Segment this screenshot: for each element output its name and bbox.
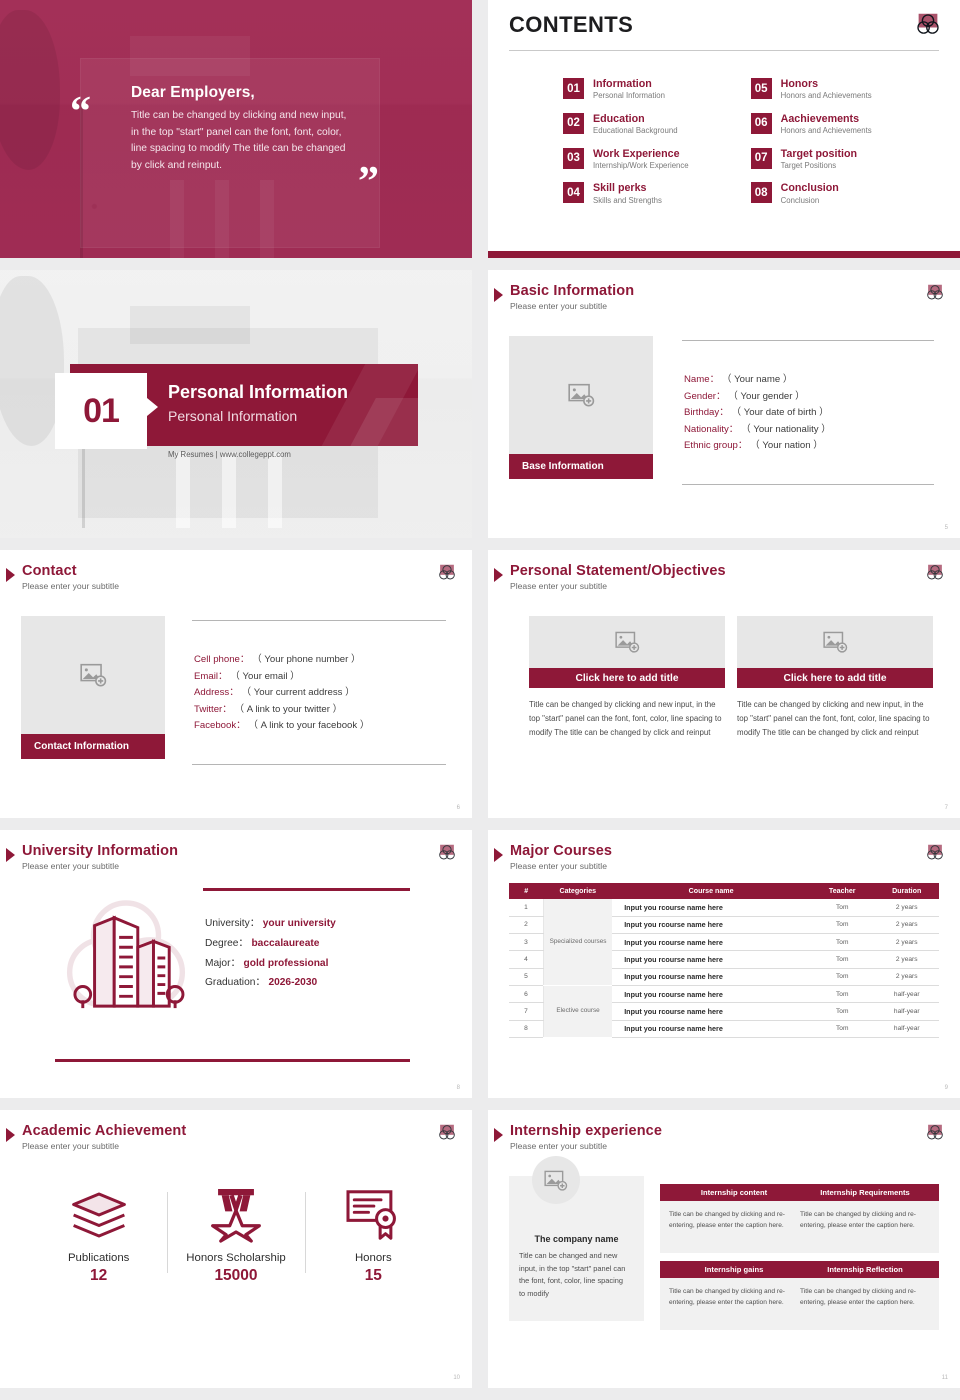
info-key: Degree：: [205, 938, 249, 949]
cell-duration: 2 years: [874, 968, 939, 985]
slide-cover-quote[interactable]: “ Dear Employers, Title can be changed b…: [0, 0, 472, 258]
photo-caption-label: Contact Information: [34, 741, 129, 752]
knot-logo-icon: [436, 1122, 458, 1144]
rule-bottom: [55, 1059, 410, 1062]
contents-item-05[interactable]: 05 Honors Honors and Achievements: [751, 78, 872, 100]
col-course: Course name: [612, 883, 810, 899]
slide-academic-achievement[interactable]: Academic Achievement Please enter your s…: [0, 1110, 472, 1388]
slide-section-divider[interactable]: 01 Personal Information Personal Informa…: [0, 270, 472, 538]
contents-item-06[interactable]: 06 Aachievements Honors and Achievements: [751, 113, 872, 135]
info-row: Address： （ Your current address ）: [194, 685, 446, 702]
info-value: （ Your phone number ）: [252, 654, 360, 665]
page-subtitle: Please enter your subtitle: [510, 861, 607, 871]
stat-label: Publications: [30, 1252, 167, 1264]
card-text: Title can be changed by clicking and re-…: [660, 1278, 808, 1330]
card-text: Title can be changed by clicking and new…: [737, 698, 933, 740]
cell-duration: half-year: [874, 1003, 939, 1020]
image-placeholder[interactable]: [737, 616, 933, 668]
info-key: Cell phone：: [194, 654, 249, 665]
university-panel: University： your university Degree： bacc…: [55, 888, 418, 1062]
building-top-shape: [130, 306, 250, 344]
quote-title: Dear Employers,: [131, 84, 356, 102]
divider-bottom: [682, 484, 934, 485]
contents-item-sub: Internship/Work Experience: [593, 161, 689, 170]
triangle-bullet-icon: [494, 568, 503, 582]
slide-deck: “ Dear Employers, Title can be changed b…: [0, 0, 960, 1400]
knot-logo-icon: [924, 562, 946, 584]
contents-item-sub: Personal Information: [593, 91, 665, 100]
table-row: 1 Specialized courses Input you rcourse …: [509, 899, 939, 916]
books-icon: [71, 1192, 127, 1238]
rule-top: [203, 888, 410, 891]
slide-internship-experience[interactable]: Internship experience Please enter your …: [488, 1110, 960, 1388]
cell-index: 4: [509, 951, 543, 968]
info-key: Major：: [205, 958, 241, 969]
info-key: Address：: [194, 687, 239, 698]
page-number: 5: [945, 525, 948, 531]
building-top-shape: [130, 36, 250, 76]
info-list: Name： （ Your name ） Gender： （ Your gende…: [682, 340, 934, 485]
page-subtitle: Please enter your subtitle: [22, 581, 119, 591]
triangle-bullet-icon: [494, 848, 503, 862]
column-shape: [215, 180, 229, 258]
page-subtitle: Please enter your subtitle: [510, 581, 607, 591]
info-value: （ A link to your facebook ）: [248, 720, 369, 731]
knot-logo-icon: [924, 1122, 946, 1144]
contents-column-left: 01 Information Personal Information 02 E…: [563, 78, 689, 205]
contents-number: 01: [563, 78, 584, 99]
cell-index: 5: [509, 968, 543, 985]
info-key: Graduation：: [205, 977, 266, 988]
contents-item-04[interactable]: 04 Skill perks Skills and Strengths: [563, 182, 689, 204]
triangle-bullet-icon: [6, 568, 15, 582]
company-logo-placeholder[interactable]: [532, 1156, 580, 1204]
contents-number: 03: [563, 148, 584, 169]
contents-item-08[interactable]: 08 Conclusion Conclusion: [751, 182, 872, 204]
contents-item-sub: Skills and Strengths: [593, 196, 662, 205]
page-subtitle: Please enter your subtitle: [22, 861, 119, 871]
column-shape: [170, 180, 184, 258]
contents-number: 08: [751, 182, 772, 203]
photo-caption-label: Base Information: [522, 461, 604, 472]
contents-item-01[interactable]: 01 Information Personal Information: [563, 78, 689, 100]
image-placeholder-icon: [823, 631, 848, 653]
column-shape: [268, 452, 282, 528]
cell-teacher: Tom: [810, 1003, 875, 1020]
knot-logo-icon: [924, 282, 946, 304]
page-subtitle: Please enter your subtitle: [510, 301, 607, 311]
info-value: （ Your nation ）: [750, 440, 823, 451]
cell-teacher: Tom: [810, 1020, 875, 1037]
info-key: Twitter：: [194, 704, 232, 715]
info-value: （ Your nationality ）: [741, 424, 831, 435]
contents-columns: 01 Information Personal Information 02 E…: [563, 78, 930, 205]
info-value: （ Your name ）: [722, 374, 793, 385]
tree-shape: [0, 10, 60, 170]
info-row: Email： （ Your email ）: [194, 669, 446, 686]
col-teacher: Teacher: [810, 883, 875, 899]
card-text: Title can be changed by clicking and re-…: [791, 1278, 939, 1330]
cell-index: 8: [509, 1020, 543, 1037]
divider-top: [682, 340, 934, 341]
info-value: （ Your current address ）: [241, 687, 354, 698]
image-placeholder-icon: [568, 383, 595, 407]
page-number: 8: [457, 1085, 460, 1091]
cell-category: Elective course: [543, 985, 612, 1037]
card-text: Title can be changed by clicking and re-…: [660, 1201, 808, 1253]
page-title: Contact: [22, 563, 77, 579]
info-row: Gender： （ Your gender ）: [684, 389, 934, 406]
cell-course: Input you rcourse name here: [612, 985, 810, 1002]
knot-logo-icon: [436, 842, 458, 864]
info-value: gold professional: [244, 958, 329, 969]
contents-item-title: Conclusion: [781, 182, 839, 194]
page-subtitle: Please enter your subtitle: [510, 1141, 607, 1151]
cell-course: Input you rcourse name here: [612, 968, 810, 985]
info-value: （ A link to your twitter ）: [235, 704, 343, 715]
info-value: （ Your date of birth ）: [731, 407, 828, 418]
stat-honors-scholarship[interactable]: Honors Scholarship 15000: [167, 1182, 304, 1285]
contents-item-title: Honors: [781, 78, 872, 90]
section-arrow-icon: [147, 398, 158, 416]
contents-item-title: Aachievements: [781, 113, 872, 125]
courses-table[interactable]: # Categories Course name Teacher Duratio…: [509, 883, 939, 1038]
image-placeholder-icon: [80, 663, 107, 687]
knot-logo-icon: [924, 842, 946, 864]
section-number-box: 01: [55, 373, 147, 449]
page-number: 10: [453, 1375, 460, 1381]
medal-icon: [210, 1187, 262, 1243]
card-caption[interactable]: Click here to add title: [737, 668, 933, 688]
statement-card[interactable]: Click here to add title Title can be cha…: [529, 616, 725, 740]
company-name: The company name: [509, 1234, 644, 1244]
internship-card-content[interactable]: Internship content Title can be changed …: [660, 1184, 808, 1253]
column-shape: [222, 452, 236, 528]
contents-item-07[interactable]: 07 Target position Target Positions: [751, 148, 872, 170]
knot-logo-icon: [436, 562, 458, 584]
slide-major-courses[interactable]: Major Courses Please enter your subtitle…: [488, 830, 960, 1098]
info-value: baccalaureate: [251, 938, 319, 949]
info-row: Name： （ Your name ）: [684, 372, 934, 389]
contents-number: 04: [563, 182, 584, 203]
slide-university-information[interactable]: University Information Please enter your…: [0, 830, 472, 1098]
contents-item-sub: Target Positions: [781, 161, 857, 170]
page-title: University Information: [22, 843, 178, 859]
stat-honors[interactable]: Honors 15: [305, 1182, 442, 1285]
triangle-bullet-icon: [494, 1128, 503, 1142]
knot-logo-icon: [913, 10, 943, 40]
cell-teacher: Tom: [810, 968, 875, 985]
slide-basic-information[interactable]: Basic Information Please enter your subt…: [488, 270, 960, 538]
card-text: Title can be changed by clicking and re-…: [791, 1201, 939, 1253]
stat-value: 15: [305, 1267, 442, 1285]
info-row: Cell phone： （ Your phone number ）: [194, 652, 446, 669]
contents-item-sub: Conclusion: [781, 196, 839, 205]
internship-card-reflection[interactable]: Internship Reflection Title can be chang…: [791, 1261, 939, 1330]
cell-teacher: Tom: [810, 985, 875, 1002]
triangle-bullet-icon: [6, 848, 15, 862]
company-text: Title can be changed and new input, in t…: [519, 1250, 631, 1301]
cell-duration: half-year: [874, 985, 939, 1002]
image-placeholder-icon: [615, 631, 640, 653]
contents-item-title: Education: [593, 113, 678, 125]
page-title: CONTENTS: [509, 12, 633, 38]
section-subtitle: Personal Information: [168, 408, 297, 424]
cell-category: Specialized courses: [543, 899, 612, 985]
stat-value: 12: [30, 1267, 167, 1285]
stat-label: Honors Scholarship: [167, 1252, 304, 1264]
photo-placeholder[interactable]: [21, 616, 165, 734]
internship-card-requirements[interactable]: Internship Requirements Title can be cha…: [791, 1184, 939, 1253]
page-title: Personal Statement/Objectives: [510, 563, 726, 579]
info-value: your university: [263, 918, 336, 929]
info-row: Graduation： 2026-2030: [205, 973, 336, 993]
cell-teacher: Tom: [810, 934, 875, 951]
section-title: Personal Information: [168, 382, 348, 403]
info-row: University： your university: [205, 914, 336, 934]
page-subtitle: Please enter your subtitle: [22, 1141, 119, 1151]
stat-publications[interactable]: Publications 12: [30, 1182, 167, 1285]
card-heading: Internship content: [660, 1184, 808, 1201]
contents-number: 05: [751, 78, 772, 99]
photo-caption[interactable]: Base Information: [509, 454, 653, 479]
triangle-bullet-icon: [6, 1128, 15, 1142]
photo-placeholder[interactable]: [509, 336, 653, 454]
page-number: 7: [945, 805, 948, 811]
triangle-bullet-icon: [494, 288, 503, 302]
cell-duration: 2 years: [874, 899, 939, 916]
info-key: Birthday：: [684, 407, 729, 418]
info-list: Cell phone： （ Your phone number ） Email：…: [192, 620, 446, 765]
cell-index: 7: [509, 1003, 543, 1020]
info-key: Facebook：: [194, 720, 246, 731]
cell-teacher: Tom: [810, 951, 875, 968]
info-key: Nationality：: [684, 424, 738, 435]
quote-body: Dear Employers, Title can be changed by …: [131, 84, 356, 175]
contents-number: 07: [751, 148, 772, 169]
info-row: Ethnic group： （ Your nation ）: [684, 438, 934, 455]
col-category: Categories: [543, 883, 612, 899]
page-title: Major Courses: [510, 843, 612, 859]
cell-teacher: Tom: [810, 916, 875, 933]
col-index: #: [509, 883, 543, 899]
page-number: 11: [942, 1375, 948, 1381]
info-row: Nationality： （ Your nationality ）: [684, 422, 934, 439]
info-row: Degree： baccalaureate: [205, 934, 336, 954]
card-heading: Internship Reflection: [791, 1261, 939, 1278]
contents-item-title: Information: [593, 78, 665, 90]
internship-card-gains[interactable]: Internship gains Title can be changed by…: [660, 1261, 808, 1330]
close-quote-mark: ”: [358, 168, 377, 197]
stat-label: Honors: [305, 1252, 442, 1264]
certificate-icon: [346, 1190, 400, 1240]
section-number: 01: [83, 392, 119, 431]
card-text: Title can be changed by clicking and new…: [529, 698, 725, 740]
card-heading: Internship gains: [660, 1261, 808, 1278]
info-value: （ Your email ）: [230, 671, 300, 682]
column-shape: [260, 180, 274, 258]
stat-value: 15000: [167, 1267, 304, 1285]
cell-duration: 2 years: [874, 916, 939, 933]
image-placeholder-icon: [544, 1170, 568, 1191]
cell-course: Input you rcourse name here: [612, 899, 810, 916]
page-title: Basic Information: [510, 283, 634, 299]
contents-item-title: Skill perks: [593, 182, 662, 194]
info-key: Gender：: [684, 391, 726, 402]
contents-column-right: 05 Honors Honors and Achievements 06 Aac…: [751, 78, 872, 205]
contents-item-03[interactable]: 03 Work Experience Internship/Work Exper…: [563, 148, 689, 170]
card-caption[interactable]: Click here to add title: [529, 668, 725, 688]
quote-text: Title can be changed by clicking and new…: [131, 108, 356, 175]
cell-course: Input you rcourse name here: [612, 1020, 810, 1037]
slide-personal-statement[interactable]: Personal Statement/Objectives Please ent…: [488, 550, 960, 818]
page-number: 9: [945, 1085, 948, 1091]
contents-number: 02: [563, 113, 584, 134]
cell-teacher: Tom: [810, 899, 875, 916]
info-value: 2026-2030: [268, 977, 317, 988]
open-quote-mark: “: [70, 98, 89, 127]
cell-course: Input you rcourse name here: [612, 934, 810, 951]
page-number: 6: [457, 805, 460, 811]
slide-contact[interactable]: Contact Please enter your subtitle Conta…: [0, 550, 472, 818]
contents-number: 06: [751, 113, 772, 134]
divider-top: [192, 620, 446, 621]
image-placeholder[interactable]: [529, 616, 725, 668]
contents-item-title: Target position: [781, 148, 857, 160]
cell-course: Input you rcourse name here: [612, 1003, 810, 1020]
card-heading: Internship Requirements: [791, 1184, 939, 1201]
info-key: Name：: [684, 374, 719, 385]
info-value: （ Your gender ）: [728, 391, 804, 402]
info-row: Birthday： （ Your date of birth ）: [684, 405, 934, 422]
info-row: Facebook： （ A link to your facebook ）: [194, 718, 446, 735]
statement-card[interactable]: Click here to add title Title can be cha…: [737, 616, 933, 740]
cell-index: 2: [509, 916, 543, 933]
column-shape: [176, 452, 190, 528]
page-title: Academic Achievement: [22, 1123, 186, 1139]
table-header-row: # Categories Course name Teacher Duratio…: [509, 883, 939, 899]
contents-item-sub: Educational Background: [593, 126, 678, 135]
contents-item-sub: Honors and Achievements: [781, 126, 872, 135]
contents-item-02[interactable]: 02 Education Educational Background: [563, 113, 689, 135]
cell-course: Input you rcourse name here: [612, 951, 810, 968]
section-footer: My Resumes | www.collegeppt.com: [168, 450, 291, 459]
bottom-accent-bar: [488, 251, 960, 258]
info-key: University：: [205, 918, 260, 929]
cell-index: 6: [509, 985, 543, 1002]
divider: [509, 50, 939, 51]
achievement-stats: Publications 12 Honors Scholarship 15000…: [30, 1182, 442, 1285]
contents-item-title: Work Experience: [593, 148, 689, 160]
table-row: 6 Elective course Input you rcourse name…: [509, 985, 939, 1002]
cell-course: Input you rcourse name here: [612, 916, 810, 933]
cell-index: 1: [509, 899, 543, 916]
slide-contents[interactable]: CONTENTS 01 Information Personal Informa…: [488, 0, 960, 258]
page-title: Internship experience: [510, 1123, 662, 1139]
info-row: Major： gold professional: [205, 954, 336, 974]
contents-item-sub: Honors and Achievements: [781, 91, 872, 100]
info-key: Ethnic group：: [684, 440, 747, 451]
cell-duration: 2 years: [874, 934, 939, 951]
photo-caption[interactable]: Contact Information: [21, 734, 165, 759]
info-key: Email：: [194, 671, 228, 682]
cell-duration: half-year: [874, 1020, 939, 1037]
cell-duration: 2 years: [874, 951, 939, 968]
col-duration: Duration: [874, 883, 939, 899]
cell-index: 3: [509, 934, 543, 951]
info-row: Twitter： （ A link to your twitter ）: [194, 702, 446, 719]
university-fields: University： your university Degree： bacc…: [205, 914, 336, 993]
divider-bottom: [192, 764, 446, 765]
university-building-icon: [67, 904, 185, 1014]
